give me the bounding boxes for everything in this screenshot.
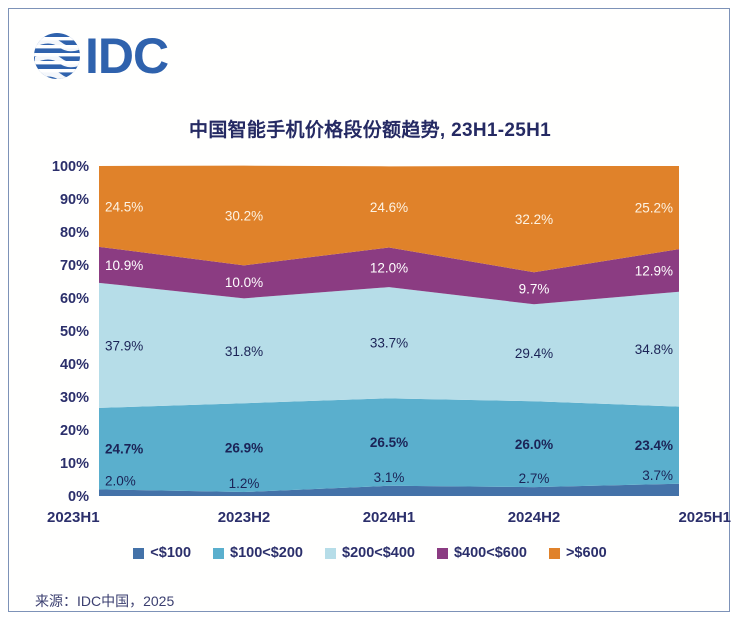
legend-item[interactable]: $400<$600 — [437, 545, 527, 561]
data-label: 12.9% — [635, 263, 673, 278]
data-label: 31.8% — [225, 344, 263, 359]
y-axis-tick: 70% — [60, 258, 89, 274]
data-label: 10.0% — [225, 275, 263, 290]
legend-swatch-icon — [325, 548, 336, 559]
idc-globe-icon — [31, 30, 83, 82]
x-axis-tick: 2023H1 — [47, 509, 100, 526]
data-label: 26.9% — [225, 441, 263, 456]
chart-card: IDC 中国智能手机价格段份额趋势, 23H1-25H1 100%90%80%7… — [8, 8, 730, 612]
idc-logo-text: IDC — [85, 31, 168, 81]
y-axis-tick: 50% — [60, 324, 89, 340]
data-label: 24.7% — [105, 442, 143, 457]
data-label: 23.4% — [635, 438, 673, 453]
legend-swatch-icon — [213, 548, 224, 559]
chart-title: 中国智能手机价格段份额趋势, 23H1-25H1 — [9, 115, 731, 142]
legend-item[interactable]: $200<$400 — [325, 545, 415, 561]
y-axis-tick: 40% — [60, 357, 89, 373]
source-note: 来源：IDC中国，2025 — [35, 591, 174, 611]
y-axis-tick: 60% — [60, 291, 89, 307]
data-label: 1.2% — [229, 476, 260, 491]
y-axis-tick: 20% — [60, 423, 89, 439]
x-axis-tick: 2023H2 — [218, 509, 271, 526]
legend-label: $400<$600 — [454, 545, 527, 561]
data-label: 3.7% — [642, 468, 673, 483]
data-label: 12.0% — [370, 260, 408, 275]
data-label: 30.2% — [225, 209, 263, 224]
data-label: 9.7% — [519, 281, 550, 296]
data-label: 33.7% — [370, 336, 408, 351]
data-label: 26.5% — [370, 435, 408, 450]
legend-label: $200<$400 — [342, 545, 415, 561]
data-label: 10.9% — [105, 258, 143, 273]
y-axis-tick: 0% — [68, 489, 89, 505]
data-label: 2.7% — [519, 471, 550, 486]
legend-swatch-icon — [549, 548, 560, 559]
y-axis-tick: 90% — [60, 192, 89, 208]
x-axis-tick: 2024H1 — [363, 509, 416, 526]
data-label: 24.5% — [105, 199, 143, 214]
y-axis-tick: 10% — [60, 456, 89, 472]
chart-plot-area: 100%90%80%70%60%50%40%30%20%10%0%2.0%1.2… — [9, 157, 731, 517]
data-label: 2.0% — [105, 473, 136, 488]
data-label: 24.6% — [370, 200, 408, 215]
data-label: 34.8% — [635, 342, 673, 357]
y-axis-tick: 80% — [60, 225, 89, 241]
legend-item[interactable]: $100<$200 — [213, 545, 303, 561]
data-label: 32.2% — [515, 212, 553, 227]
legend-swatch-icon — [437, 548, 448, 559]
stacked-area-chart: 100%90%80%70%60%50%40%30%20%10%0%2.0%1.2… — [9, 157, 731, 527]
chart-legend: <$100$100<$200$200<$400$400<$600>$600 — [9, 545, 731, 561]
legend-label: $100<$200 — [230, 545, 303, 561]
legend-label: <$100 — [150, 545, 191, 561]
x-axis-tick: 2025H1 — [678, 509, 731, 526]
idc-logo: IDC — [31, 27, 168, 85]
legend-swatch-icon — [133, 548, 144, 559]
y-axis-tick: 100% — [52, 159, 89, 175]
data-label: 37.9% — [105, 338, 143, 353]
x-axis-tick: 2024H2 — [508, 509, 561, 526]
data-label: 3.1% — [374, 470, 405, 485]
y-axis-tick: 30% — [60, 390, 89, 406]
data-label: 26.0% — [515, 437, 553, 452]
legend-label: >$600 — [566, 545, 607, 561]
legend-item[interactable]: <$100 — [133, 545, 191, 561]
legend-item[interactable]: >$600 — [549, 545, 607, 561]
data-label: 25.2% — [635, 201, 673, 216]
data-label: 29.4% — [515, 346, 553, 361]
